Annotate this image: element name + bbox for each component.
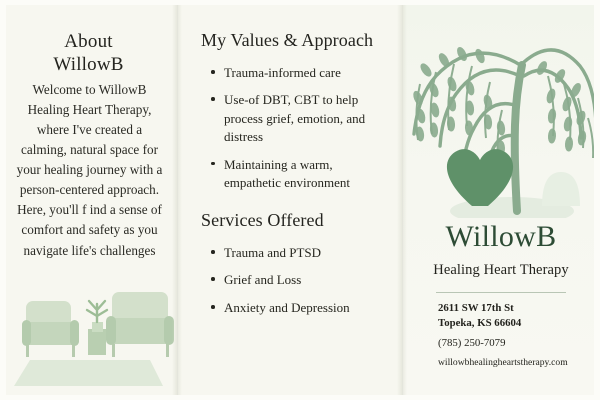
fold-line-right: [402, 0, 403, 400]
tree-trunk: [515, 65, 522, 211]
list-item: Grief and Loss: [209, 271, 389, 289]
services-heading: Services Offered: [201, 210, 324, 231]
contact-divider: [436, 292, 566, 293]
about-title-line2: WillowB: [0, 53, 177, 76]
list-item: Maintaining a warm, empathetic environme…: [209, 156, 384, 193]
left-armchair: [22, 301, 79, 357]
panel-left-about: About WillowB Welcome to WillowB Healing…: [0, 0, 177, 400]
rug-shape: [14, 360, 163, 386]
right-armchair: [106, 292, 174, 357]
list-item: Trauma-informed care: [209, 64, 384, 82]
armchairs-illustration: [0, 274, 177, 394]
about-title: About WillowB: [0, 30, 177, 76]
fold-line-left: [177, 0, 178, 400]
list-item: Use-of DBT, CBT to help process grief, e…: [209, 91, 384, 146]
side-table-with-plant: [87, 301, 107, 355]
contact-block: 2611 SW 17th St Topeka, KS 66604 (785) 2…: [438, 301, 598, 370]
services-list: Trauma and PTSD Grief and Loss Anxiety a…: [209, 244, 389, 326]
contact-city-state-zip: Topeka, KS 66604: [438, 316, 598, 331]
values-heading: My Values & Approach: [201, 30, 373, 51]
panel-right-logo-contact: WillowB Healing Heart Therapy 2611 SW 17…: [402, 0, 600, 400]
shrub-shape: [542, 172, 580, 206]
brand-name: WillowB: [402, 222, 600, 252]
trifold-brochure: About WillowB Welcome to WillowB Healing…: [0, 0, 600, 400]
panel-middle-content: My Values & Approach Trauma-informed car…: [177, 0, 402, 400]
values-list: Trauma-informed care Use-of DBT, CBT to …: [209, 64, 384, 202]
contact-website[interactable]: willowbhealingheartstherapy.com: [438, 356, 598, 370]
list-item: Anxiety and Depression: [209, 299, 389, 317]
willow-tree-icon: [402, 6, 600, 218]
about-body-text: Welcome to WillowB Healing Heart Therapy…: [14, 80, 165, 261]
list-item: Trauma and PTSD: [209, 244, 389, 262]
about-title-line1: About: [0, 30, 177, 53]
brand-tagline: Healing Heart Therapy: [402, 262, 600, 279]
contact-street: 2611 SW 17th St: [438, 301, 598, 316]
contact-phone[interactable]: (785) 250-7079: [438, 336, 598, 351]
